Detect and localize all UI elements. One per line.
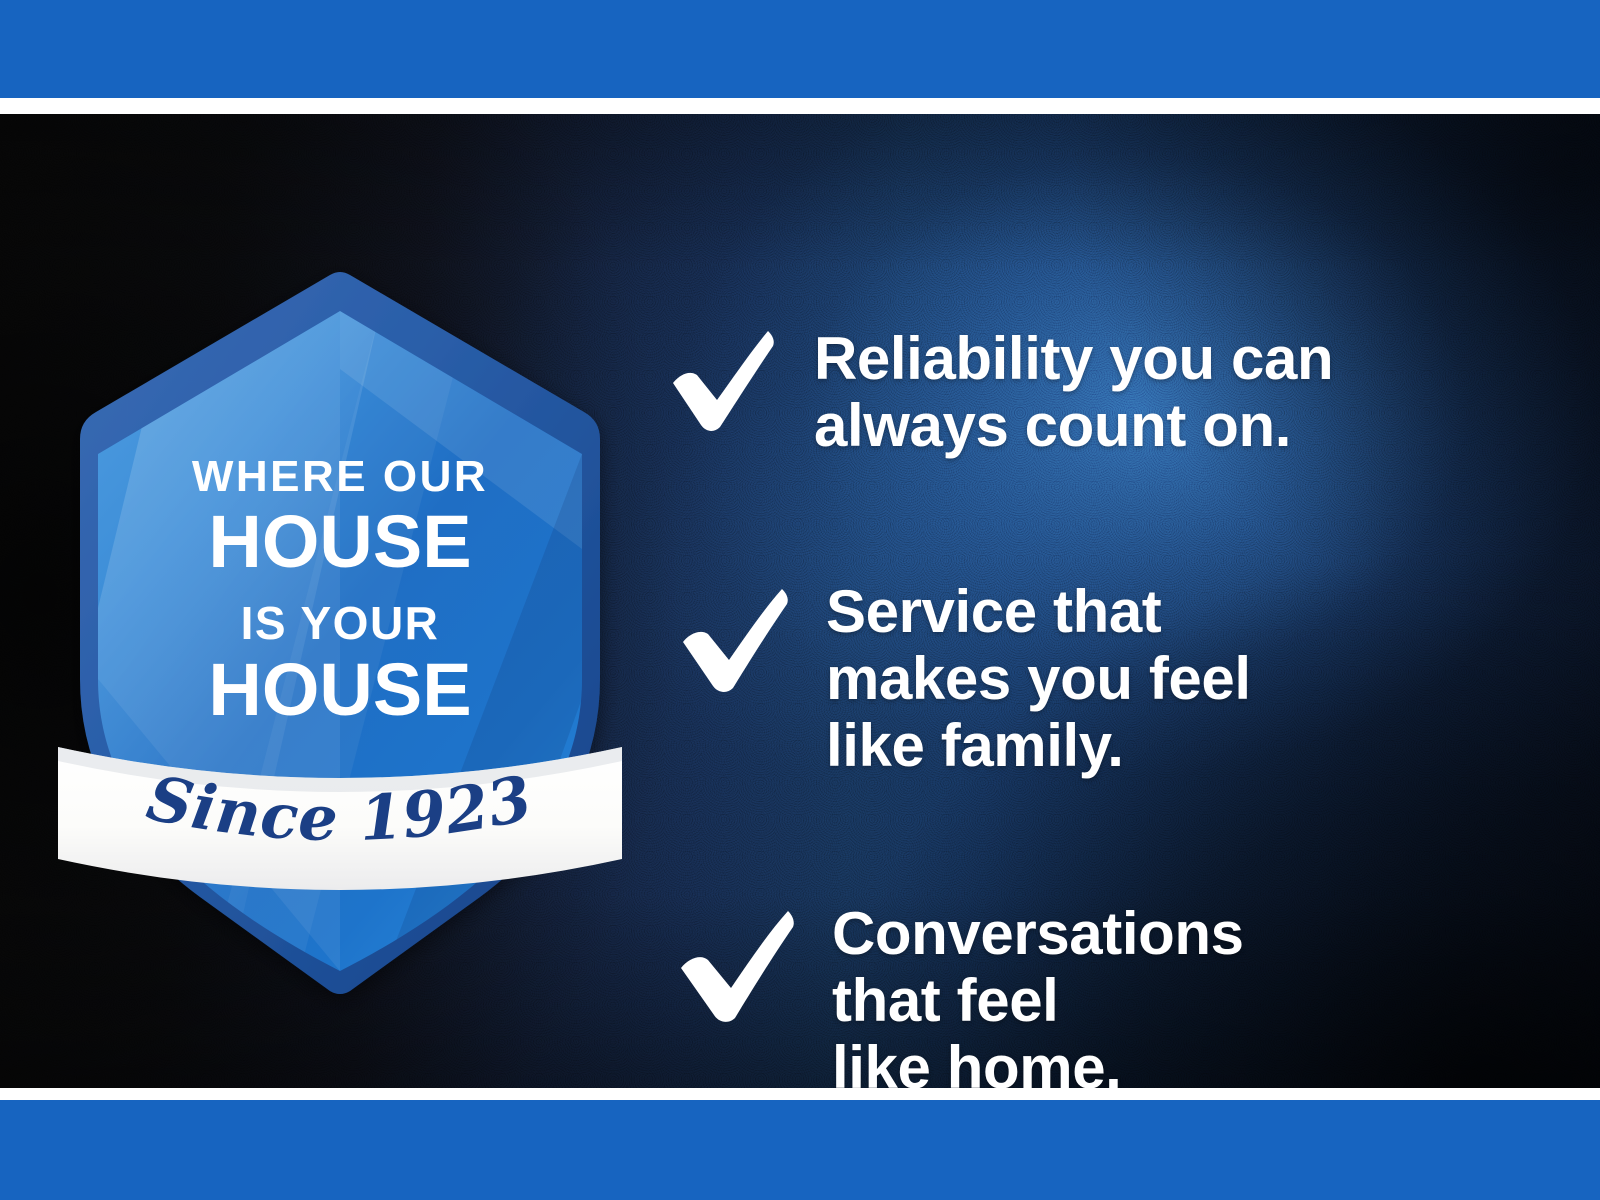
benefits-list: Reliability you can always count on. Ser… [668,228,1568,1088]
badge-line-3: IS YOUR [241,597,440,649]
benefit-item-reliability: Reliability you can always count on. [668,323,1333,459]
main-canvas: WHERE OUR HOUSE IS YOUR HOUSE Since 1923 [0,114,1600,1088]
benefit-item-conversations: Conversations that feel like home. [676,900,1244,1088]
badge-line-2: HOUSE [208,500,471,583]
shield-badge: WHERE OUR HOUSE IS YOUR HOUSE Since 1923 [50,249,630,929]
benefit-item-service: Service that makes you feel like family. [678,578,1251,780]
top-divider [0,98,1600,114]
promo-graphic: WHERE OUR HOUSE IS YOUR HOUSE Since 1923 [0,0,1600,1200]
check-icon [668,327,776,433]
badge-line-1: WHERE OUR [192,452,488,501]
bottom-brand-bar [0,1100,1600,1200]
check-icon [676,906,796,1024]
badge-line-4: HOUSE [208,648,471,731]
benefit-text: Conversations that feel like home. [832,900,1244,1088]
benefit-text: Service that makes you feel like family. [826,578,1251,780]
top-brand-bar [0,0,1600,98]
check-icon [678,584,790,694]
benefit-text: Reliability you can always count on. [814,325,1333,459]
bottom-divider [0,1088,1600,1100]
